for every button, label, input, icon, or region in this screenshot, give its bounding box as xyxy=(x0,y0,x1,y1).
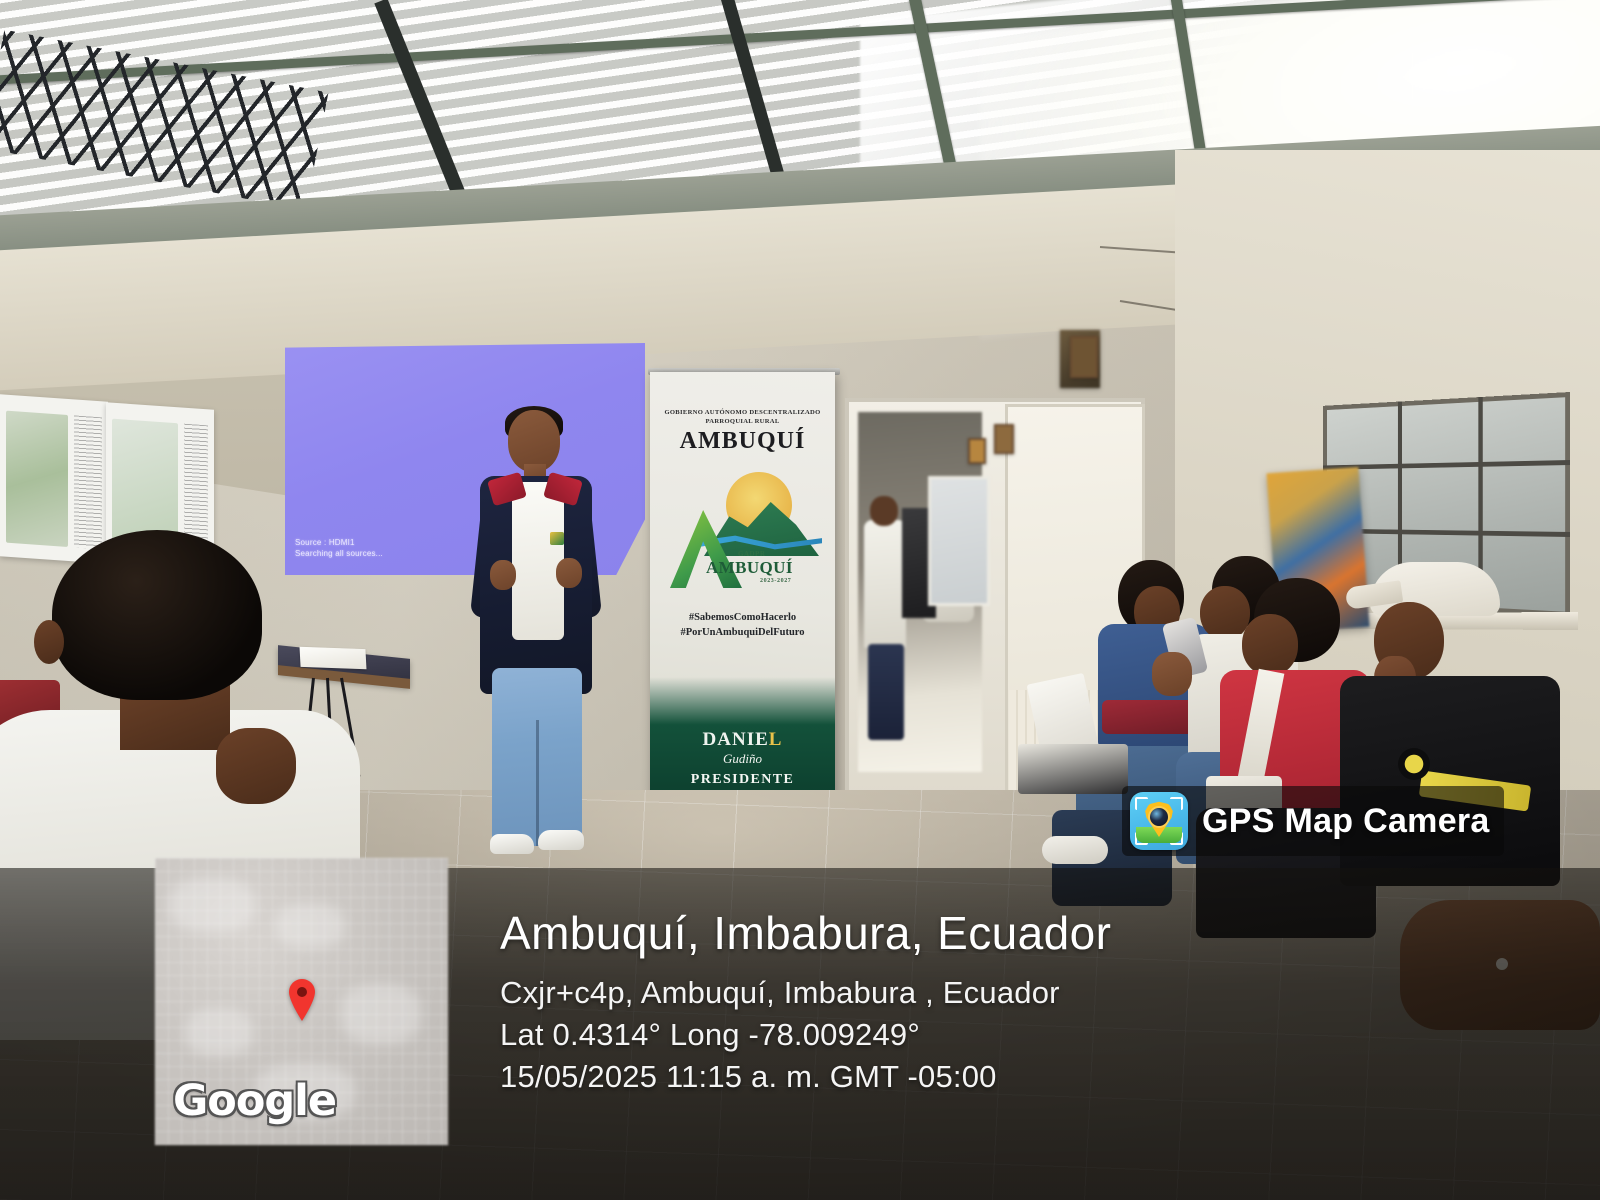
presenter-shoe-right xyxy=(538,830,584,850)
logo-name-text: AMBUQUÍ xyxy=(706,558,793,578)
presenter-polo-shirt xyxy=(512,482,564,640)
geotag-title: Ambuquí, Imbabura, Ecuador xyxy=(500,906,1111,960)
banner-candidate-name: DANIEL xyxy=(650,729,835,751)
banner-org-line2: PARROQUIAL RURAL xyxy=(650,417,835,426)
geotagged-photo: Source : HDMI1 Searching all sources... … xyxy=(0,0,1600,1200)
attendee1-folder xyxy=(1018,744,1128,794)
presenter-hand-left xyxy=(490,560,516,590)
framed-picture-2 xyxy=(994,424,1014,454)
geotag-coordinates: Lat 0.4314° Long -78.009249° xyxy=(500,1017,920,1053)
office-staff-standing xyxy=(864,520,906,648)
geotag-datetime: 15/05/2025 11:15 a. m. GMT -05:00 xyxy=(500,1059,997,1095)
banner-org-lines: GOBIERNO AUTÓNOMO DESCENTRALIZADO PARROQ… xyxy=(650,408,835,426)
geotag-address: Cxjr+c4p, Ambuquí, Imbabura , Ecuador xyxy=(500,975,1060,1011)
framed-picture-3 xyxy=(1070,336,1098,378)
foreground-attendee-fist xyxy=(216,728,296,804)
whiteboard xyxy=(928,476,990,606)
gadpr-logo: GADPR AMBUQUÍ 2023-2027 xyxy=(664,470,822,590)
presenter-shirt-logo xyxy=(550,532,564,545)
foreground-attendee-ear xyxy=(34,620,64,664)
office-staff-pants xyxy=(868,644,904,740)
office-staff-head xyxy=(870,496,898,526)
google-watermark: Google xyxy=(173,1076,336,1126)
banner-hashtag-1: #SabemosComoHacerlo xyxy=(650,610,835,625)
map-pin-icon xyxy=(287,978,317,1022)
presenter-head xyxy=(508,410,560,472)
attendee3-face xyxy=(1242,614,1298,676)
ambuqui-rollup-banner: GOBIERNO AUTÓNOMO DESCENTRALIZADO PARROQ… xyxy=(650,372,835,817)
presenter xyxy=(468,410,608,860)
framed-picture-1 xyxy=(968,438,986,464)
candidate-first: DANIE xyxy=(703,729,769,750)
attendee4-jacket-emblem-icon xyxy=(1398,748,1430,780)
presenter-shoe-left xyxy=(490,834,534,854)
banner-candidate-surname: Gudiño xyxy=(650,751,835,767)
attendee1-shoe xyxy=(1042,836,1108,864)
banner-hashtag-2: #PorUnAmbuquiDelFuturo xyxy=(650,625,835,640)
banner-org-line1: GOBIERNO AUTÓNOMO DESCENTRALIZADO xyxy=(650,408,835,417)
gps-camera-pin-icon xyxy=(1130,792,1188,850)
gps-map-camera-badge: GPS Map Camera xyxy=(1122,786,1504,856)
attendee2-hand xyxy=(1152,652,1192,696)
banner-candidate-role: PRESIDENTE xyxy=(650,772,835,788)
presenter-hand-right xyxy=(556,558,582,588)
candidate-last-letter: L xyxy=(769,729,783,750)
gps-map-camera-label: GPS Map Camera xyxy=(1202,802,1490,841)
logo-gadpr-text: GADPR xyxy=(738,550,765,558)
banner-title: AMBUQUÍ xyxy=(650,428,835,455)
foreground-attendee-hair xyxy=(52,530,262,700)
logo-years-text: 2023-2027 xyxy=(760,578,791,584)
banner-hashtags: #SabemosComoHacerlo #PorUnAmbuquiDelFutu… xyxy=(650,610,835,640)
presenter-jeans xyxy=(492,668,582,846)
